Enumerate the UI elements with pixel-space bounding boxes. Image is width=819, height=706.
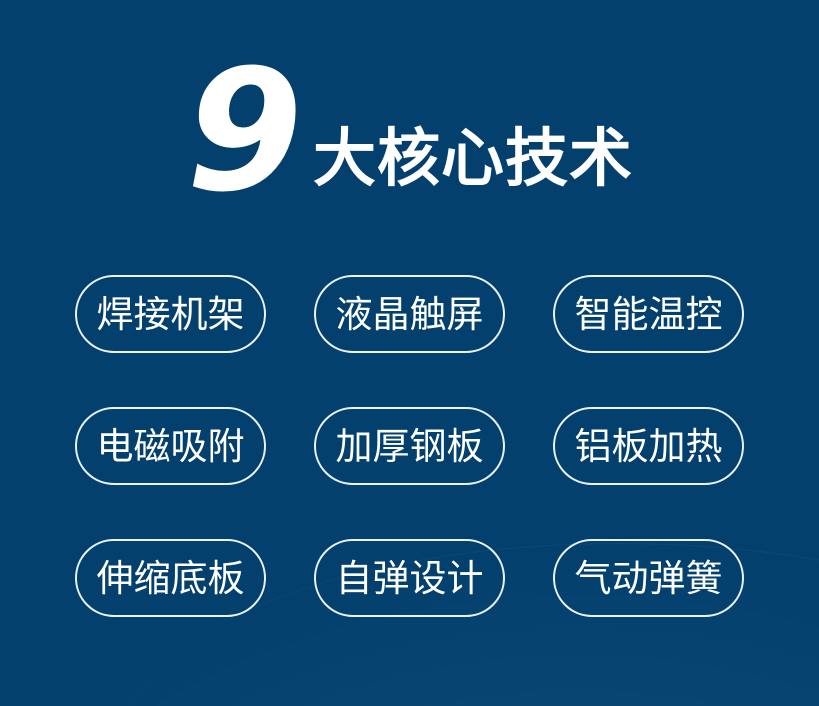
- feature-pill-label: 电磁吸附: [97, 428, 245, 465]
- title-number: 9: [186, 64, 299, 198]
- feature-poster: 9 大核心技术 焊接机架 液晶触屏 智能温控 电磁吸附 加厚钢板 铝板加热 伸缩…: [0, 0, 819, 706]
- feature-pill-9[interactable]: 气动弹簧: [553, 539, 744, 617]
- feature-pill-label: 加厚钢板: [336, 428, 484, 465]
- feature-pill-grid: 焊接机架 液晶触屏 智能温控 电磁吸附 加厚钢板 铝板加热 伸缩底板 自弹设计 …: [75, 275, 744, 617]
- page-title: 9 大核心技术: [0, 44, 819, 194]
- feature-pill-label: 智能温控: [575, 296, 723, 333]
- feature-pill-6[interactable]: 铝板加热: [553, 407, 744, 485]
- feature-pill-label: 铝板加热: [575, 428, 723, 465]
- feature-pill-1[interactable]: 焊接机架: [75, 275, 266, 353]
- feature-pill-label: 气动弹簧: [575, 560, 723, 597]
- feature-pill-4[interactable]: 电磁吸附: [75, 407, 266, 485]
- feature-pill-2[interactable]: 液晶触屏: [314, 275, 505, 353]
- feature-pill-7[interactable]: 伸缩底板: [75, 539, 266, 617]
- feature-pill-5[interactable]: 加厚钢板: [314, 407, 505, 485]
- feature-pill-8[interactable]: 自弹设计: [314, 539, 505, 617]
- title-text: 大核心技术: [313, 127, 633, 190]
- feature-pill-label: 液晶触屏: [336, 296, 484, 333]
- feature-pill-label: 伸缩底板: [97, 560, 245, 597]
- feature-pill-3[interactable]: 智能温控: [553, 275, 744, 353]
- feature-pill-label: 焊接机架: [97, 296, 245, 333]
- feature-pill-label: 自弹设计: [336, 560, 484, 597]
